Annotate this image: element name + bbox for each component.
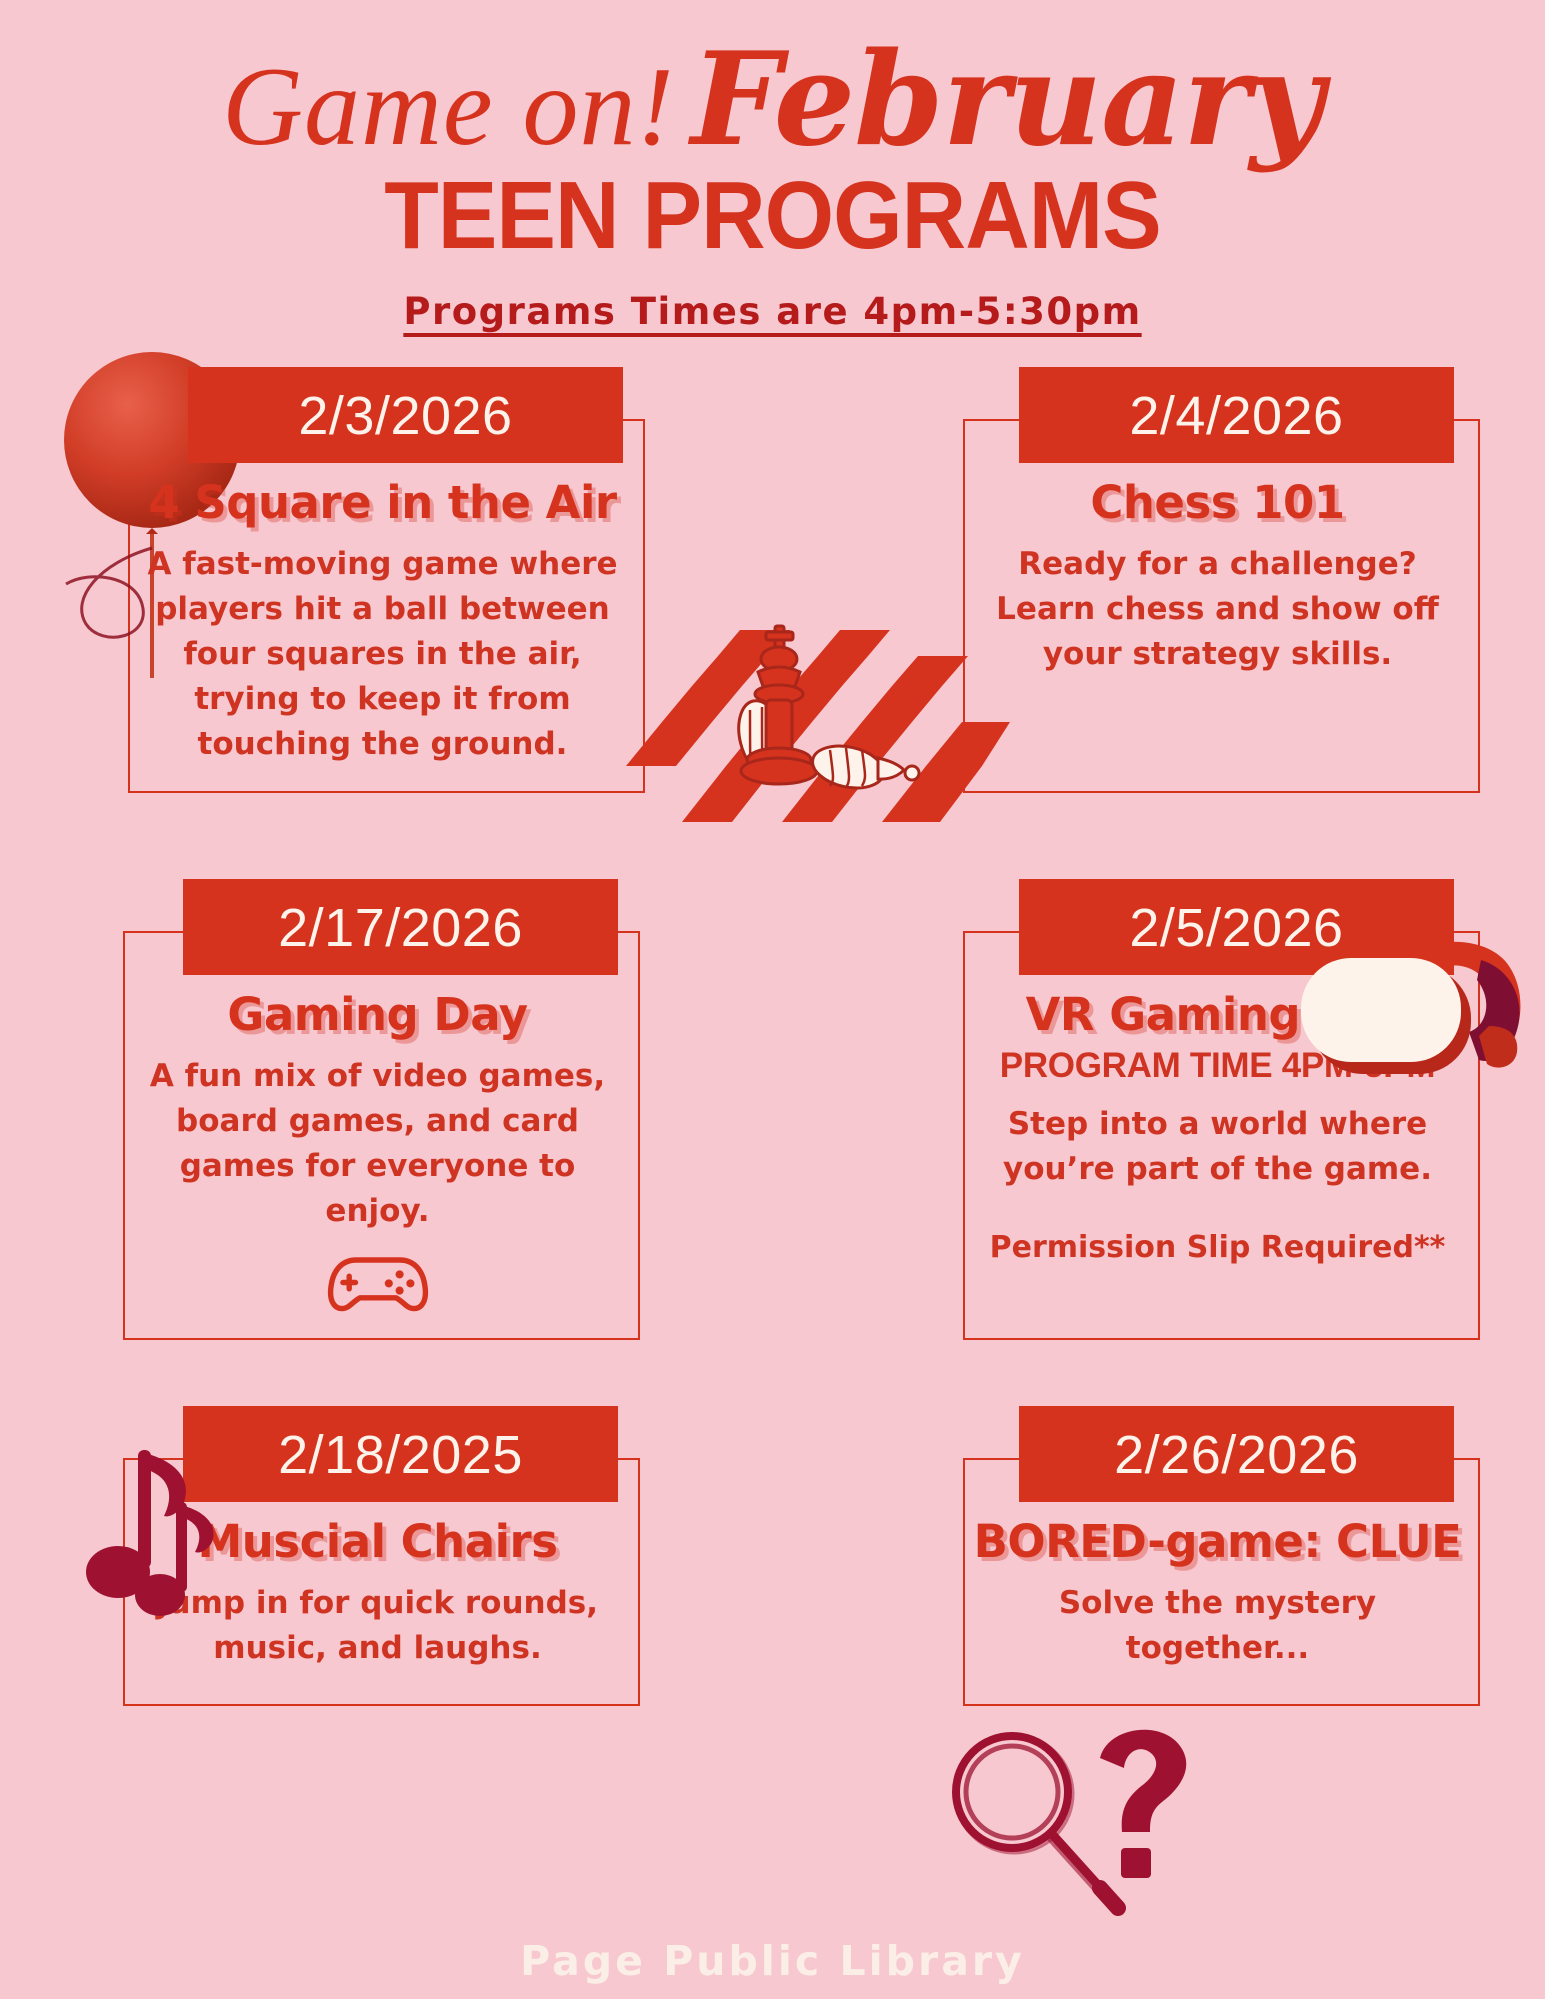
library-footer: Page Public Library	[0, 1937, 1545, 1985]
poster-header: Game on!February TEEN PROGRAMS Programs …	[0, 0, 1545, 333]
program-title: VR Gaming Day	[965, 991, 1470, 1038]
program-date-badge: 2/5/2026	[1019, 879, 1454, 975]
program-date-badge: 2/18/2025	[183, 1406, 618, 1502]
script-title-part-1: Game on!	[222, 45, 675, 169]
program-description: A fast-moving game where players hit a b…	[130, 542, 635, 767]
program-card-vr-gaming[interactable]: 2/5/2026 VR Gaming Day PROGRAM TIME 4PM-…	[945, 879, 1490, 1340]
program-title: Gaming Day	[125, 991, 630, 1038]
program-date-badge: 2/26/2026	[1019, 1406, 1454, 1502]
script-title-part-2: February	[691, 25, 1323, 175]
program-description: Solve the mystery together...	[965, 1581, 1470, 1671]
poster-subtitle: Programs Times are 4pm-5:30pm	[0, 290, 1545, 333]
program-description: Ready for a challenge? Learn chess and s…	[965, 542, 1470, 677]
program-date-badge: 2/3/2026	[188, 367, 623, 463]
programs-row-3: 2/18/2025 Muscial Chairs Jump in for qui…	[0, 1406, 1545, 1706]
programs-row-1: 2/3/2026 4 Square in the Air A fast-movi…	[0, 367, 1545, 793]
magnifying-glass-question-icon	[940, 1720, 1180, 1910]
programs-grid: 2/3/2026 4 Square in the Air A fast-movi…	[0, 367, 1545, 1706]
program-date-badge: 2/4/2026	[1019, 367, 1454, 463]
program-footnote: Permission Slip Required**	[965, 1228, 1470, 1267]
program-title: Chess 101	[965, 479, 1470, 526]
program-title: Muscial Chairs	[125, 1518, 630, 1565]
poster-main-title: TEEN PROGRAMS	[54, 168, 1491, 264]
program-title: BORED-game: CLUE	[965, 1518, 1470, 1565]
program-title: 4 Square in the Air	[130, 479, 635, 526]
program-card-bored-game-clue[interactable]: 2/26/2026 BORED-game: CLUE Solve the mys…	[945, 1406, 1490, 1706]
game-controller-icon	[125, 1242, 630, 1314]
program-description: Step into a world where you’re part of t…	[965, 1102, 1470, 1192]
program-description: A fun mix of video games, board games, a…	[125, 1054, 630, 1234]
programs-row-2: 2/17/2026 Gaming Day A fun mix of video …	[0, 879, 1545, 1340]
program-date-badge: 2/17/2026	[183, 879, 618, 975]
program-card-4-square[interactable]: 2/3/2026 4 Square in the Air A fast-movi…	[110, 367, 655, 793]
program-card-gaming-day[interactable]: 2/17/2026 Gaming Day A fun mix of video …	[105, 879, 650, 1340]
program-card-musical-chairs[interactable]: 2/18/2025 Muscial Chairs Jump in for qui…	[105, 1406, 650, 1706]
program-card-chess[interactable]: 2/4/2026 Chess 101 Ready for a challenge…	[945, 367, 1490, 793]
poster-script-title: Game on!February	[0, 0, 1545, 164]
program-time-note: PROGRAM TIME 4PM-5PM	[965, 1046, 1470, 1086]
program-description: Jump in for quick rounds, music, and lau…	[125, 1581, 630, 1671]
